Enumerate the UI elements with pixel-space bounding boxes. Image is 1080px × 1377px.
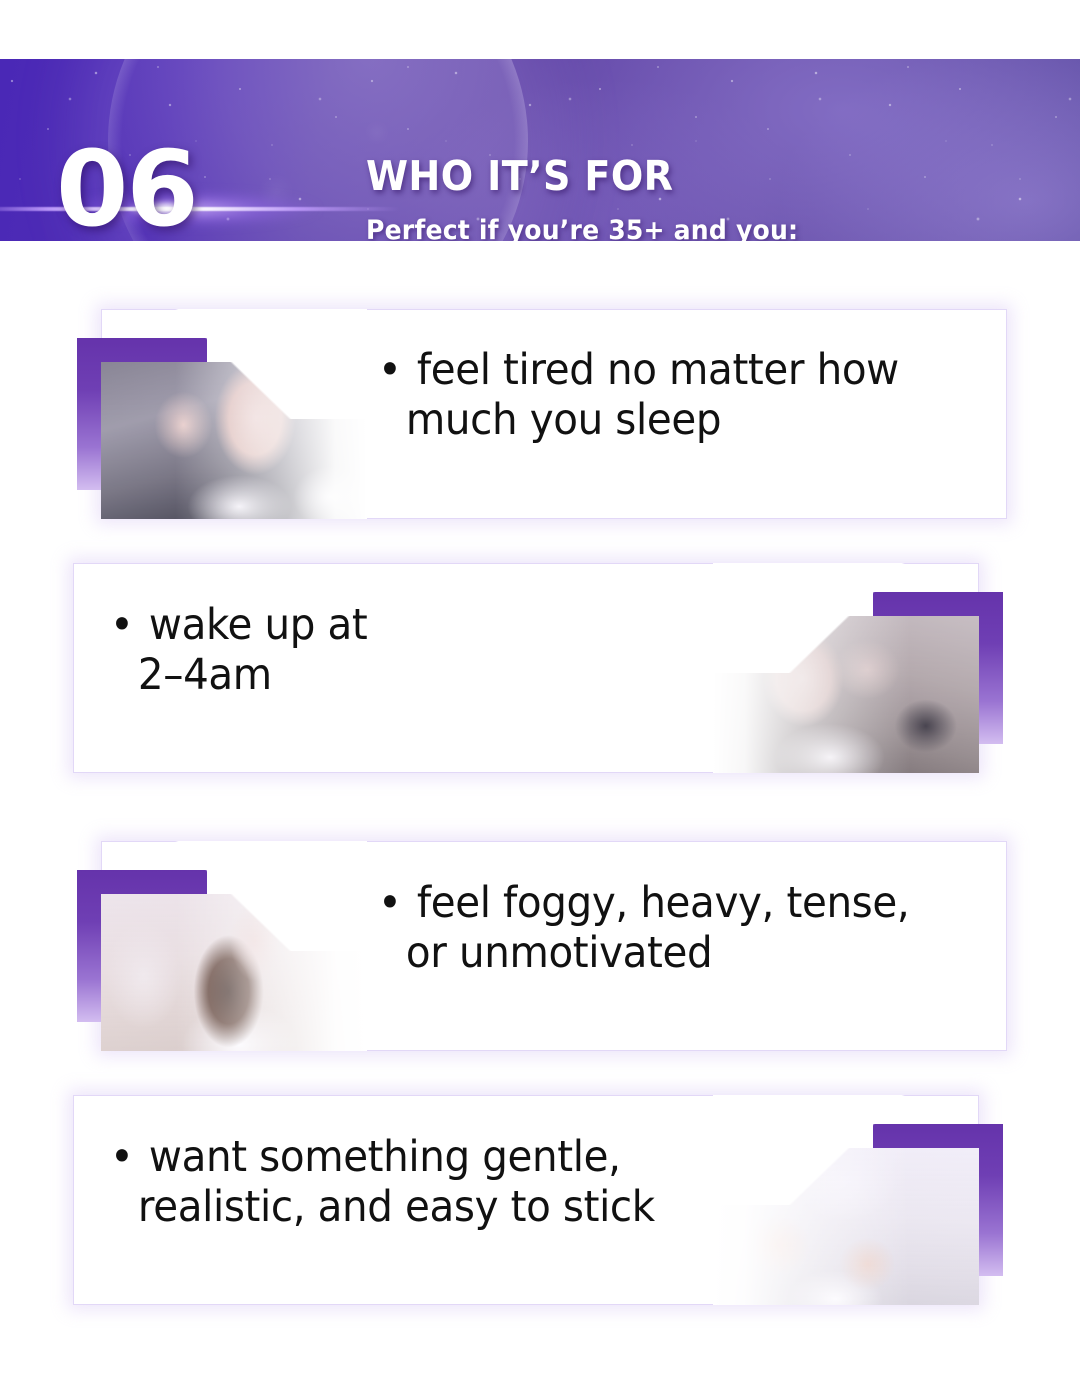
bullet-text-two: 2–4am <box>138 650 272 700</box>
bullet-text-one: wake up at <box>149 600 367 650</box>
bullet-indent-spacer <box>378 395 406 445</box>
bullet-text-one: want something gentle, <box>149 1132 621 1182</box>
list-item-text: •feel tired no matter how much you sleep <box>378 345 988 446</box>
bullet-line-two: or unmotivated <box>378 928 951 978</box>
bullet-icon: • <box>110 1132 149 1182</box>
bullet-line-one: •feel foggy, heavy, tense, <box>378 878 951 928</box>
bullet-icon: • <box>378 878 417 928</box>
infographic-page: 06 WHO IT’S FOR Perfect if you’re 35+ an… <box>0 0 1080 1377</box>
list-item-text: •want something gentle, realistic, and e… <box>110 1132 790 1233</box>
photo-diagonal-clip <box>101 841 367 951</box>
bullet-text-two: much you sleep <box>406 395 721 445</box>
bullet-indent-spacer <box>110 1182 138 1232</box>
bullet-text-two: realistic, and easy to stick <box>138 1182 655 1232</box>
bullet-line-one: •want something gentle, <box>110 1132 749 1182</box>
bullet-line-two: much you sleep <box>378 395 951 445</box>
photo-diagonal-clip <box>713 563 979 673</box>
list-item-text: •feel foggy, heavy, tense, or unmotivate… <box>378 878 988 979</box>
bullet-text-one: feel tired no matter how <box>417 345 899 395</box>
bullet-icon: • <box>378 345 417 395</box>
bullet-indent-spacer <box>378 928 406 978</box>
bullet-text-two: or unmotivated <box>406 928 712 978</box>
photo-diagonal-clip <box>101 309 367 419</box>
bullet-card-list: •feel tired no matter how much you sleep… <box>0 0 1080 1377</box>
bullet-text-one: feel foggy, heavy, tense, <box>417 878 909 928</box>
bullet-line-one: •feel tired no matter how <box>378 345 951 395</box>
bullet-line-two: realistic, and easy to stick <box>110 1182 749 1232</box>
bullet-icon: • <box>110 600 149 650</box>
list-item-text: •wake up at 2–4am <box>110 600 580 701</box>
bullet-line-one: •wake up at <box>110 600 552 650</box>
bullet-indent-spacer <box>110 650 138 700</box>
bullet-line-two: 2–4am <box>110 650 552 700</box>
